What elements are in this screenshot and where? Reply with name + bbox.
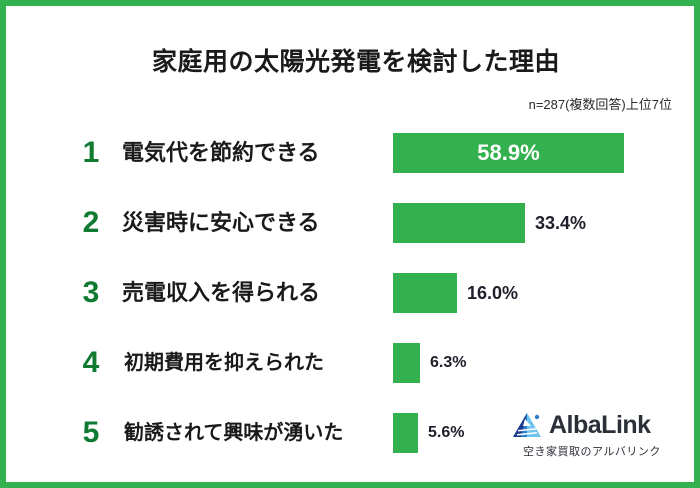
category-label: 電気代を節約できる xyxy=(122,142,320,164)
table-row: 3 売電収入を得られる 16.0% xyxy=(6,258,700,328)
bar-value: 6.3% xyxy=(430,355,466,371)
mountain-icon xyxy=(512,412,542,438)
bar xyxy=(393,273,457,313)
category-label: 勧誘されて興味が湧いた xyxy=(124,423,343,443)
rank-number: 3 xyxy=(78,278,104,308)
logo-wordmark: AlbaLink xyxy=(549,413,651,438)
category-label: 災害時に安心できる xyxy=(122,212,320,234)
bar-value: 5.6% xyxy=(428,425,464,441)
rank-number: 1 xyxy=(78,138,104,168)
bar-value: 16.0% xyxy=(467,284,518,302)
bar: 58.9% xyxy=(393,133,624,173)
bar-zone: 16.0% xyxy=(393,273,518,313)
page-title: 家庭用の太陽光発電を検討した理由 xyxy=(6,42,700,78)
bar-zone: 6.3% xyxy=(393,343,466,383)
logo-tagline: 空き家買取のアルバリンク xyxy=(512,443,672,459)
bar-value: 58.9% xyxy=(477,142,539,164)
logo-row: AlbaLink xyxy=(512,412,672,438)
table-row: 1 電気代を節約できる 58.9% xyxy=(6,118,700,188)
bar xyxy=(393,203,525,243)
rank-number: 4 xyxy=(78,348,104,378)
brand-logo: AlbaLink 空き家買取のアルバリンク xyxy=(512,412,672,464)
rank-number: 5 xyxy=(78,418,104,448)
bar-value: 33.4% xyxy=(535,214,586,232)
category-label: 売電収入を得られる xyxy=(122,282,320,304)
bar xyxy=(393,343,420,383)
bar-zone: 58.9% xyxy=(393,133,624,173)
rank-number: 2 xyxy=(78,208,104,238)
bar-zone: 5.6% xyxy=(393,413,464,453)
bar xyxy=(393,413,418,453)
bar-zone: 33.4% xyxy=(393,203,586,243)
table-row: 2 災害時に安心できる 33.4% xyxy=(6,188,700,258)
table-row: 4 初期費用を抑えられた 6.3% xyxy=(6,328,700,398)
category-label: 初期費用を抑えられた xyxy=(124,353,324,373)
chart-container: 家庭用の太陽光発電を検討した理由 n=287(複数回答)上位7位 1 電気代を節… xyxy=(0,0,700,488)
sample-size-note: n=287(複数回答)上位7位 xyxy=(529,94,672,113)
